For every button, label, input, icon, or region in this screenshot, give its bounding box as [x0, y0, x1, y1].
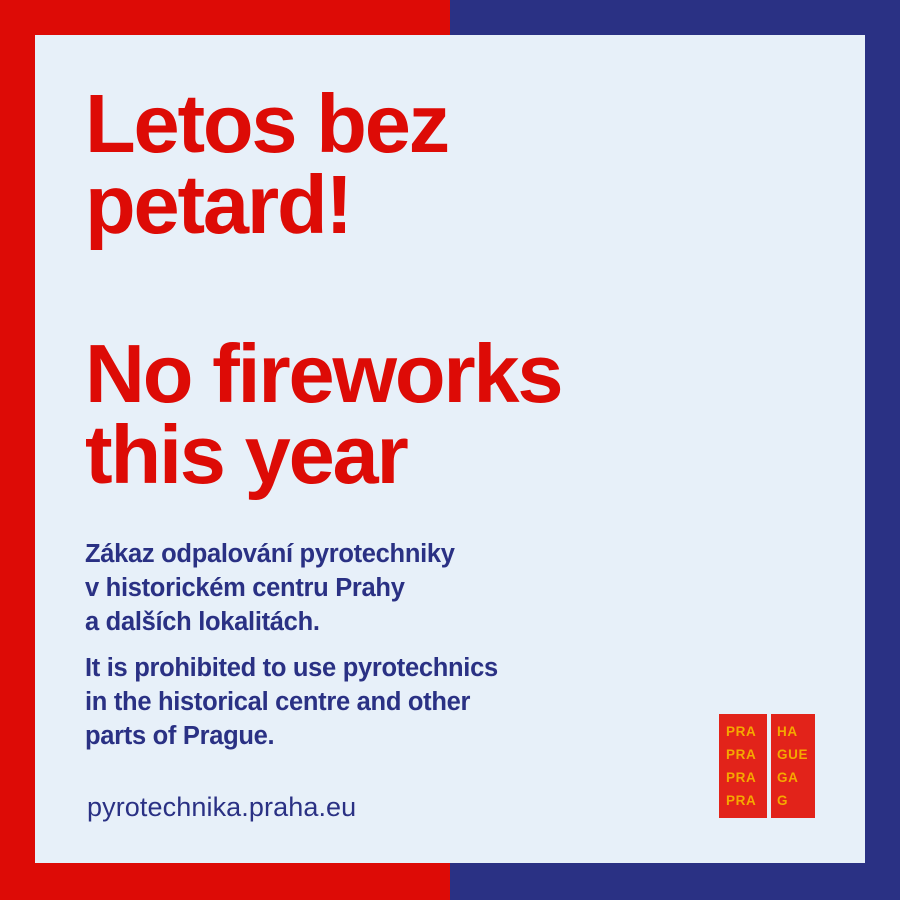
body-text-czech: Zákaz odpalování pyrotechniky v historic…	[85, 538, 455, 640]
logo-line-gue: GUE	[777, 743, 815, 766]
campaign-url[interactable]: pyrotechnika.praha.eu	[87, 792, 356, 823]
logo-column-left: PRA PRA PRA PRA	[719, 714, 767, 818]
logo-column-right: HA GUE GA G	[771, 714, 815, 818]
prague-logo: PRA PRA PRA PRA HA GUE GA G	[719, 714, 815, 818]
body-text-english: It is prohibited to use pyrotechnics in …	[85, 652, 498, 754]
content-card: Letos bez petard! No fireworks this year…	[35, 35, 865, 863]
poster-canvas: Letos bez petard! No fireworks this year…	[0, 0, 900, 900]
logo-line-ga: GA	[777, 766, 815, 789]
headline-czech: Letos bez petard!	[85, 83, 448, 246]
logo-line-pra-3: PRA	[726, 766, 767, 789]
logo-line-pra-4: PRA	[726, 789, 767, 812]
logo-line-pra-1: PRA	[726, 720, 767, 743]
logo-line-ha: HA	[777, 720, 815, 743]
logo-line-g: G	[777, 789, 815, 812]
headline-english: No fireworks this year	[85, 333, 561, 496]
logo-line-pra-2: PRA	[726, 743, 767, 766]
